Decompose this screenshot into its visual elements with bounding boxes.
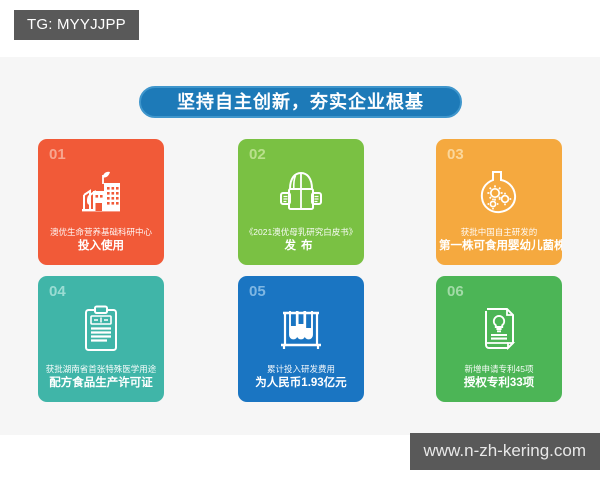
patent-scroll-icon xyxy=(436,300,562,358)
info-card-01[interactable]: 01 xyxy=(38,139,164,265)
card-number-05: 05 xyxy=(249,284,266,299)
card-number-06: 06 xyxy=(447,284,464,299)
card-number-03: 03 xyxy=(447,147,464,162)
card-text-02: 《2021澳优母乳研究白皮书》 发布 xyxy=(241,226,361,254)
gut-microbe-icon xyxy=(436,163,562,221)
slide-canvas: TG: MYYJJPP 坚持自主创新，夯实企业根基 01 xyxy=(0,0,600,480)
page-title: 坚持自主创新，夯实企业根基 xyxy=(177,93,424,111)
info-card-02[interactable]: 02 《2021澳优母乳研究白皮书》 发布 xyxy=(238,139,364,265)
card-text-01: 澳优生命营养基础科研中心 投入使用 xyxy=(41,226,161,254)
card-text-04: 获批湖南省首张特殊医学用途 配方食品生产许可证 xyxy=(41,363,161,391)
card-number-02: 02 xyxy=(249,147,266,162)
card-text-06: 新增申请专利45项 授权专利33项 xyxy=(439,363,559,391)
info-card-04[interactable]: 04 获批湖南省首张特殊医学用途 配方食品生产许可证 xyxy=(38,276,164,402)
clipboard-document-icon xyxy=(38,300,164,358)
info-card-05[interactable]: 05 xyxy=(238,276,364,402)
site-watermark: www.n-zh-kering.com xyxy=(410,433,600,470)
card-number-01: 01 xyxy=(49,147,66,162)
section-title-banner: 坚持自主创新，夯实企业根基 xyxy=(139,86,462,118)
tg-watermark-tag: TG: MYYJJPP xyxy=(14,10,139,40)
open-book-icon xyxy=(238,163,364,221)
card-number-04: 04 xyxy=(49,284,66,299)
card-text-05: 累计投入研发费用 为人民币1.93亿元 xyxy=(241,363,361,391)
info-card-03[interactable]: 03 获批中国自主研发的 第一株可食用婴幼儿菌株 xyxy=(436,139,562,265)
test-tube-rack-icon xyxy=(238,300,364,358)
info-card-06[interactable]: 06 新增申请专利45项 授权专利3 xyxy=(436,276,562,402)
card-text-03: 获批中国自主研发的 第一株可食用婴幼儿菌株 xyxy=(439,226,559,254)
factory-building-icon xyxy=(38,163,164,221)
card-grid: 01 xyxy=(38,139,565,402)
